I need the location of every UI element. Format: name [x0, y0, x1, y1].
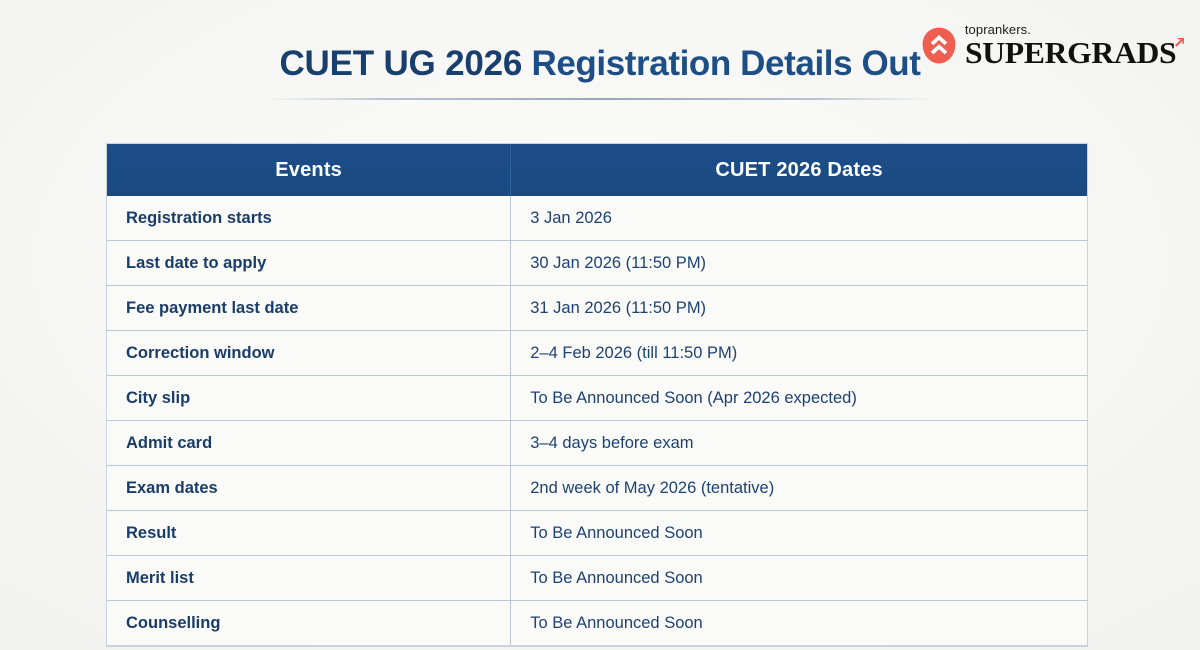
cell-date: 2nd week of May 2026 (tentative) — [511, 466, 1087, 511]
page-title: CUET UG 2026 Registration Details Out — [0, 44, 1200, 84]
cell-event: Correction window — [107, 331, 511, 376]
cell-date: 3–4 days before exam — [511, 421, 1087, 466]
table-row: Registration starts 3 Jan 2026 — [107, 196, 1087, 241]
table-row: Correction window 2–4 Feb 2026 (till 11:… — [107, 331, 1087, 376]
cell-date: 30 Jan 2026 (11:50 PM) — [511, 241, 1087, 286]
page-header: CUET UG 2026 Registration Details Out — [0, 44, 1200, 100]
column-header-events: Events — [107, 144, 511, 196]
cell-event: Counselling — [107, 601, 511, 646]
page-title-highlight: CUET UG 2026 — [279, 44, 522, 83]
cell-event: Registration starts — [107, 196, 511, 241]
cell-date: 3 Jan 2026 — [511, 196, 1087, 241]
table-row: Result To Be Announced Soon — [107, 511, 1087, 556]
table-row: Admit card 3–4 days before exam — [107, 421, 1087, 466]
column-header-dates: CUET 2026 Dates — [511, 144, 1087, 196]
table-row: Merit list To Be Announced Soon — [107, 556, 1087, 601]
title-divider — [267, 98, 933, 100]
cell-event: Last date to apply — [107, 241, 511, 286]
cell-date: To Be Announced Soon (Apr 2026 expected) — [511, 376, 1087, 421]
table-header-row: Events CUET 2026 Dates — [107, 144, 1087, 196]
cell-event: Merit list — [107, 556, 511, 601]
cuet-schedule-table: Events CUET 2026 Dates Registration star… — [107, 144, 1087, 646]
table-body: Registration starts 3 Jan 2026 Last date… — [107, 196, 1087, 646]
table-row: City slip To Be Announced Soon (Apr 2026… — [107, 376, 1087, 421]
cell-event: City slip — [107, 376, 511, 421]
schedule-table-container: Events CUET 2026 Dates Registration star… — [107, 144, 1087, 646]
cell-event: Admit card — [107, 421, 511, 466]
cell-date: To Be Announced Soon — [511, 511, 1087, 556]
cell-date: To Be Announced Soon — [511, 556, 1087, 601]
cell-event: Exam dates — [107, 466, 511, 511]
cell-event: Result — [107, 511, 511, 556]
cell-date: To Be Announced Soon — [511, 601, 1087, 646]
cell-event: Fee payment last date — [107, 286, 511, 331]
table-row: Exam dates 2nd week of May 2026 (tentati… — [107, 466, 1087, 511]
table-row: Fee payment last date 31 Jan 2026 (11:50… — [107, 286, 1087, 331]
table-row: Counselling To Be Announced Soon — [107, 601, 1087, 646]
page-title-rest: Registration Details Out — [522, 44, 920, 83]
cell-date: 2–4 Feb 2026 (till 11:50 PM) — [511, 331, 1087, 376]
table-row: Last date to apply 30 Jan 2026 (11:50 PM… — [107, 241, 1087, 286]
cell-date: 31 Jan 2026 (11:50 PM) — [511, 286, 1087, 331]
